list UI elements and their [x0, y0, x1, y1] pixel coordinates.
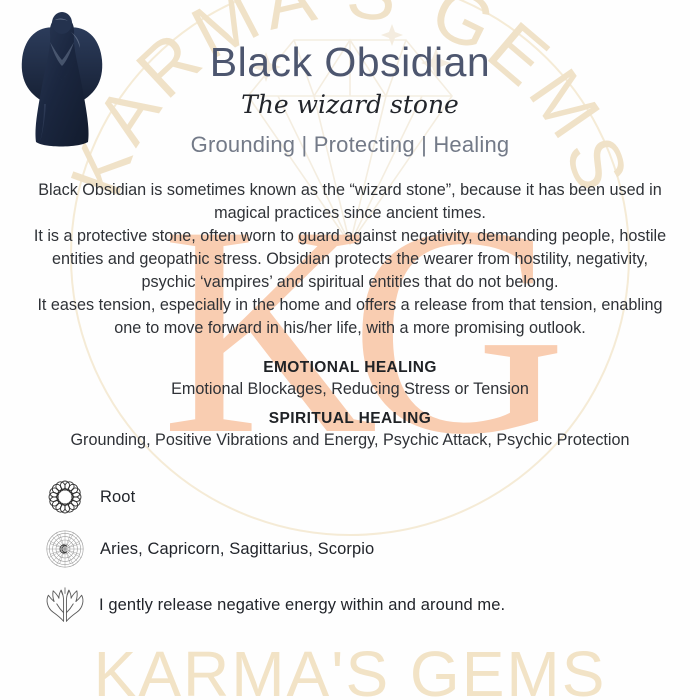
- healing-detail: Grounding, Positive Vibrations and Energ…: [0, 430, 700, 451]
- attribute-row-affirmation: I gently release negative energy within …: [43, 583, 700, 627]
- black-obsidian-angel-figurine: [14, 8, 110, 158]
- zodiac-wheel-icon: [43, 527, 87, 571]
- description-paragraph: It eases tension, especially in the home…: [32, 294, 668, 340]
- attribute-row-zodiac: Aries, Capricorn, Sagittarius, Scorpio: [43, 527, 700, 571]
- healing-detail: Emotional Blockages, Reducing Stress or …: [0, 379, 700, 400]
- healing-heading: SPIRITUAL HEALING: [0, 410, 700, 428]
- healing-heading: EMOTIONAL HEALING: [0, 359, 700, 377]
- open-hands-icon: [43, 583, 87, 627]
- healing-section: SPIRITUAL HEALING Grounding, Positive Vi…: [0, 410, 700, 451]
- affirmation-label: I gently release negative energy within …: [99, 596, 505, 615]
- card-content: Black Obsidian The wizard stone Groundin…: [0, 0, 700, 627]
- healing-section: EMOTIONAL HEALING Emotional Blockages, R…: [0, 359, 700, 400]
- description-paragraph: Black Obsidian is sometimes known as the…: [32, 179, 668, 225]
- bottom-brand-watermark: KARMA'S GEMS: [0, 642, 700, 700]
- attributes-list: Root: [0, 475, 700, 627]
- attribute-row-chakra: Root: [43, 475, 700, 519]
- description-paragraph: It is a protective stone, often worn to …: [32, 225, 668, 294]
- chakra-icon: [43, 475, 87, 519]
- zodiac-label: Aries, Capricorn, Sagittarius, Scorpio: [100, 540, 374, 559]
- healing-block: EMOTIONAL HEALING Emotional Blockages, R…: [0, 359, 700, 451]
- chakra-label: Root: [100, 488, 135, 507]
- crystal-info-card: KG KARMA'S GEMS KARMA'S GEMS: [0, 0, 700, 700]
- description-block: Black Obsidian is sometimes known as the…: [32, 179, 668, 340]
